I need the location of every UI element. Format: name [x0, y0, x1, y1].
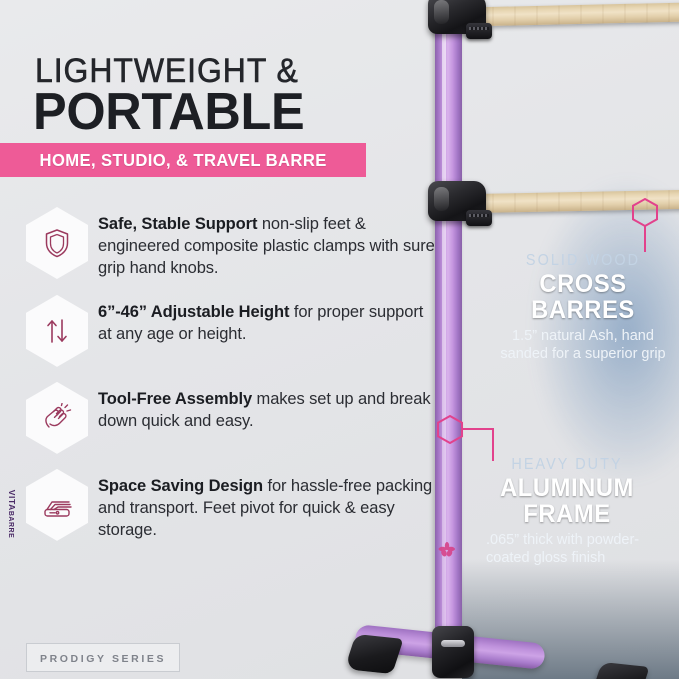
feature-title: Space Saving Design [98, 477, 263, 495]
shield-icon [44, 228, 70, 258]
callout-eyebrow: HEAVY DUTY [484, 456, 650, 474]
barre-clamp-top [428, 0, 486, 34]
feature-title: Tool-Free Assembly [98, 390, 252, 408]
feature-item-safe-stable-support: Safe, Stable Support non-slip feet & eng… [26, 205, 436, 280]
headline-line-2: PORTABLE [33, 86, 304, 138]
series-badge-label: PRODIGY SERIES [40, 653, 166, 665]
callout-title-line1: ALUMINUM [482, 476, 651, 502]
non-slip-foot-left [344, 634, 403, 674]
callout-cross-barres: SOLID WOOD CROSS BARRES 1.5” natural Ash… [494, 252, 672, 363]
callout-description: 1.5” natural Ash, hand sanded for a supe… [494, 328, 672, 363]
callout-description: .065” thick with powder-coated gloss fin… [478, 532, 656, 567]
feature-icon-badge [26, 469, 88, 541]
clapping-hands-icon [41, 403, 73, 433]
feature-text: Space Saving Design for hassle-free pack… [98, 467, 436, 542]
callout-title-line2: FRAME [482, 502, 651, 528]
pointer-line [644, 226, 646, 252]
vita-barre-logo: VITABARRE [4, 485, 22, 543]
subtitle-banner-label: HOME, STUDIO, & TRAVEL BARRE [39, 150, 326, 171]
brand-name-secondary: BARRE [7, 511, 14, 538]
flower-logo-icon [437, 540, 457, 560]
feature-text: Tool-Free Assembly makes set up and brea… [98, 380, 436, 433]
feature-item-adjustable-height: 6”-46” Adjustable Height for proper supp… [26, 293, 436, 367]
hand-knob [466, 210, 492, 226]
hexagon-marker-icon [437, 415, 463, 444]
hand-knob [466, 23, 492, 39]
feature-item-tool-free-assembly: Tool-Free Assembly makes set up and brea… [26, 380, 436, 454]
infographic-root: VITABARRE SOLID WOOD [0, 0, 679, 679]
series-badge: PRODIGY SERIES [26, 643, 180, 672]
barre-clamp-bottom [428, 181, 486, 221]
feature-title: 6”-46” Adjustable Height [98, 303, 289, 321]
subtitle-banner: HOME, STUDIO, & TRAVEL BARRE [0, 143, 366, 177]
up-down-arrows-icon [42, 316, 72, 346]
callout-title-line2: BARRES [498, 298, 667, 324]
brand-name-primary: VITA [7, 490, 17, 511]
callout-aluminum-frame: HEAVY DUTY ALUMINUM FRAME .065” thick wi… [478, 456, 656, 567]
feature-item-space-saving-design: Space Saving Design for hassle-free pack… [26, 467, 436, 542]
feature-text: 6”-46” Adjustable Height for proper supp… [98, 293, 436, 346]
folded-stack-icon [41, 491, 73, 519]
feature-list: Safe, Stable Support non-slip feet & eng… [26, 205, 436, 555]
feature-icon-badge [26, 295, 88, 367]
callout-title-line1: CROSS [498, 272, 667, 298]
pointer-line-horizontal [462, 428, 494, 430]
feature-text: Safe, Stable Support non-slip feet & eng… [98, 205, 436, 280]
feature-title: Safe, Stable Support [98, 215, 257, 233]
hexagon-marker-icon [632, 198, 658, 227]
feature-icon-badge [26, 207, 88, 279]
feature-icon-badge [26, 382, 88, 454]
callout-eyebrow: SOLID WOOD [500, 252, 666, 270]
base-clamp [432, 626, 474, 678]
